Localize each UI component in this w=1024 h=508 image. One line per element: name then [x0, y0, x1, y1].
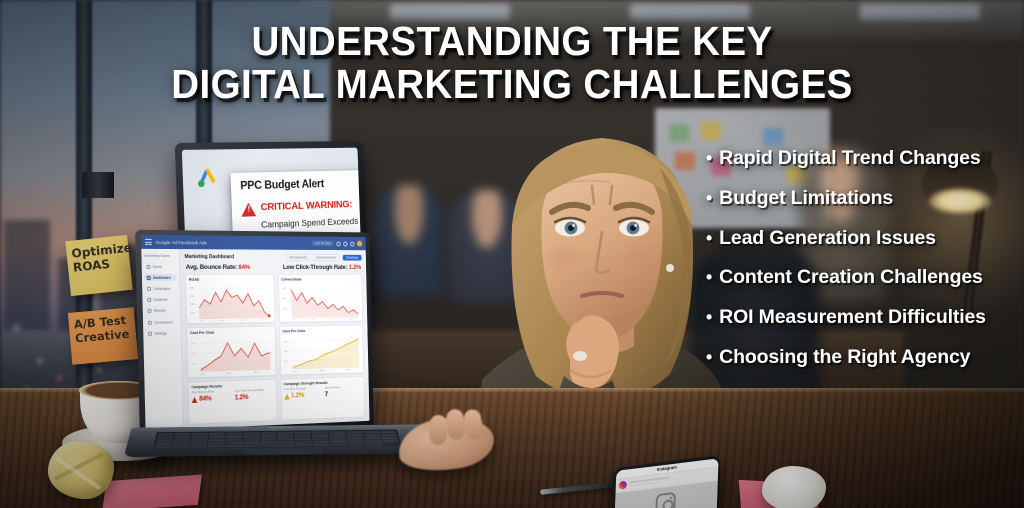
svg-text:Mar 5: Mar 5 — [345, 369, 350, 372]
headline-metrics: Avg. Bounce Rate: 84% Low Click-Through … — [185, 264, 362, 271]
sidebar-item-label: Settings — [154, 331, 166, 335]
svg-text:2500: 2500 — [283, 308, 287, 310]
chart-plot-area: 2.001.50 1.00 Jan 1Feb 5 Mar 19 — [190, 336, 272, 376]
ceiling-light — [630, 4, 750, 20]
result-value: 7 — [325, 391, 328, 398]
metric-bounce-rate: Avg. Bounce Rate: 84% — [186, 264, 250, 271]
kebab-menu-icon[interactable]: ⋮ — [356, 329, 359, 331]
result-value: 1.2% — [235, 394, 249, 401]
svg-text:Jan 1: Jan 1 — [291, 319, 295, 320]
svg-text:Mar 12: Mar 12 — [330, 318, 335, 321]
window-mullion — [76, 0, 92, 430]
sidebar-item-audience[interactable]: Audience — [145, 296, 177, 303]
kebab-menu-icon[interactable]: ⋮ — [355, 278, 358, 280]
result-value: 1.2% — [291, 392, 304, 399]
alert-severity-label: CRITICAL WARNING: — [260, 198, 352, 212]
chart-plot-area: 400%300% 200%100% Jan 1Feb 5 Mar 12Apr 2 — [189, 283, 271, 321]
bell-icon[interactable] — [350, 241, 354, 246]
svg-text:Feb 5: Feb 5 — [220, 320, 225, 321]
sticky-note-line-2: Creative — [75, 327, 132, 346]
list-item-label: Choosing the Right Agency — [719, 347, 970, 369]
result-label: Low Click-Through — [284, 387, 321, 392]
chart-card-row-bottom: Cost Per Click ⋮ — [186, 325, 364, 379]
phone-screen[interactable]: Instagram — [614, 458, 718, 508]
list-item: • ROI Measurement Difficulties — [706, 307, 1024, 329]
svg-text:Mar 12: Mar 12 — [241, 319, 246, 322]
svg-text:100%: 100% — [190, 312, 195, 314]
laptop-screen[interactable]: Google Ad Facebook Ads Last 30 days Mark… — [141, 235, 370, 431]
list-item: • Content Creation Challenges — [706, 267, 1024, 289]
svg-text:5000: 5000 — [282, 298, 286, 300]
pink-sticky-note — [102, 474, 202, 508]
sidebar-item-label: Audience — [154, 298, 168, 302]
chart-title: Cost Per Click — [282, 329, 305, 333]
laptop-model-label: MacBook Pro — [270, 426, 295, 428]
svg-text:300%: 300% — [190, 295, 195, 297]
svg-text:Apr 2: Apr 2 — [261, 318, 265, 321]
results-card-row: Campaign Results ⋮ Avg. Bounce Rate 84% — [187, 376, 365, 425]
segments-chip[interactable]: Set segments — [286, 254, 311, 261]
sidebar-item-label: Conversions — [154, 320, 173, 324]
poster-canvas: PPC Budget Alert CRITICAL WARNING: Campa… — [0, 0, 1024, 508]
chart-title: Conversions — [281, 277, 302, 281]
chart-card-conversions[interactable]: Conversions ⋮ — [277, 273, 363, 323]
gear-icon — [148, 331, 152, 335]
result-label: Low Click-Through Rate — [235, 388, 273, 393]
conversions-icon — [148, 320, 152, 324]
kebab-menu-icon[interactable]: ⋮ — [267, 278, 271, 280]
svg-text:Jan 1: Jan 1 — [293, 371, 298, 372]
sticky-note-ab-test-creative: A/B Test Creative — [68, 307, 138, 365]
bullet-icon: • — [706, 148, 712, 170]
chart-plot-area: 75005000 2500 Jan 1Feb 5 Mar 12Apr 2 — [281, 283, 359, 320]
metric-label: Avg. Bounce Rate: — [186, 264, 237, 271]
audience-icon — [147, 298, 151, 302]
post-meta-line — [629, 482, 655, 487]
chart-title: ROAS — [189, 277, 199, 281]
help-icon[interactable] — [343, 241, 347, 246]
result-cell-ctr: Low Click-Through Rate 1.2% — [235, 388, 274, 419]
chart-card-cost-per-click-red[interactable]: Cost Per Click ⋮ — [186, 326, 276, 378]
list-item-label: Budget Limitations — [719, 188, 893, 210]
laptop-lid: Google Ad Facebook Ads Last 30 days Mark… — [135, 230, 374, 440]
sidebar-item-home[interactable]: Home — [145, 263, 177, 270]
laptop-base: MacBook Pro — [124, 424, 441, 457]
campaign-results-card[interactable]: Campaign Results ⋮ Avg. Bounce Rate 84% — [187, 379, 277, 425]
sidebar-item-dashboard[interactable]: Dashboard — [145, 274, 177, 281]
result-cell-bounce-rate: Avg. Bounce Rate 84% — [191, 390, 231, 421]
chart-plot-area: 0.800.60 0.40 Jan 1Feb 5 Mar 5 — [282, 334, 360, 373]
warning-triangle-icon — [241, 202, 256, 216]
list-item-label: Content Creation Challenges — [719, 267, 983, 289]
list-item: • Lead Generation Issues — [706, 228, 1024, 250]
sidebar-item-label: Home — [153, 264, 162, 268]
roas-line-chart: 400%300% 200%100% Jan 1Feb 5 Mar 12Apr 2 — [189, 283, 271, 321]
bullet-icon: • — [706, 347, 712, 369]
metric-value: 1.2% — [349, 264, 361, 271]
city-building — [4, 220, 50, 330]
crumpled-white-paper — [762, 466, 826, 508]
conversions-line-chart: 75005000 2500 Jan 1Feb 5 Mar 12Apr 2 — [281, 283, 359, 320]
dashboard-icon — [147, 276, 151, 280]
date-range-chip[interactable]: Last 30 days — [312, 240, 334, 246]
svg-text:400%: 400% — [190, 287, 195, 289]
bullet-icon: • — [706, 188, 712, 210]
results-title: Campaign Results — [191, 384, 222, 389]
bullet-icon: • — [706, 307, 712, 329]
sidebar-title: Marketing Share — [144, 254, 176, 258]
page-title: Marketing Dashboard — [184, 254, 234, 260]
campaign-strength-results-card[interactable]: Campaign Strength Results ⋮ Low Click-Th… — [280, 376, 365, 421]
svg-text:Jan 1: Jan 1 — [200, 320, 204, 321]
dashboard-topbar: Google Ad Facebook Ads Last 30 days — [141, 235, 366, 250]
list-item: • Rapid Digital Trend Changes — [706, 148, 1024, 170]
download-button[interactable]: Download — [342, 255, 361, 261]
list-item: • Budget Limitations — [706, 188, 1024, 210]
wall-sticky-note — [763, 128, 783, 146]
svg-text:0.60: 0.60 — [284, 351, 288, 353]
sidebar-item-conversions[interactable]: Conversions — [146, 318, 178, 326]
story-avatar[interactable] — [618, 480, 626, 489]
home-icon — [146, 264, 150, 268]
svg-text:0.80: 0.80 — [283, 342, 287, 344]
benchmarks-chip[interactable]: Set benchmarks — [313, 254, 340, 261]
sidebar-item-label: Campaigns — [153, 287, 170, 291]
dashboard-sidebar: Marketing Share Home Dashboard Campaigns — [141, 249, 184, 431]
sticky-note-optimize-roas: Optimize ROAS — [65, 235, 132, 296]
svg-text:0.40: 0.40 — [284, 361, 288, 363]
challenges-list: • Rapid Digital Trend Changes • Budget L… — [706, 148, 1024, 387]
ceiling-light — [860, 4, 980, 20]
svg-text:1.00: 1.00 — [192, 363, 196, 365]
metric-label: Low Click-Through Rate: — [283, 264, 348, 271]
result-cell-alerts: Alerts Raised 7 — [325, 385, 362, 415]
svg-text:Feb 5: Feb 5 — [227, 373, 232, 375]
sidebar-item-label: Dashboard — [153, 276, 171, 280]
hamburger-menu-icon[interactable] — [145, 239, 152, 245]
laptop-keyboard[interactable] — [153, 430, 401, 450]
svg-text:Apr 2: Apr 2 — [349, 317, 353, 320]
monitor-stand — [82, 172, 114, 198]
sidebar-item-reports[interactable]: Reports — [146, 307, 178, 315]
sidebar-item-settings[interactable]: Settings — [146, 329, 178, 337]
cpc-red-area-chart: 2.001.50 1.00 Jan 1Feb 5 Mar 19 — [190, 336, 272, 376]
gear-icon[interactable] — [336, 241, 340, 246]
crumpled-yellow-paper — [48, 441, 114, 499]
bullet-icon: • — [706, 267, 712, 289]
alert-title: PPC Budget Alert — [240, 178, 361, 193]
sidebar-item-campaigns[interactable]: Campaigns — [145, 285, 177, 292]
svg-text:Feb 5: Feb 5 — [320, 371, 325, 373]
dashboard-main: Marketing Dashboard Set segments Set ben… — [180, 249, 370, 429]
chart-card-row-top: ROAS ⋮ — [185, 273, 363, 324]
result-value: 84% — [199, 396, 211, 403]
chart-title: Cost Per Click — [190, 331, 214, 335]
google-ads-logo-icon — [194, 163, 220, 189]
app-name-label: Instagram — [657, 464, 677, 472]
kebab-menu-icon[interactable]: ⋮ — [357, 381, 360, 383]
instagram-icon — [655, 492, 676, 508]
ceiling — [300, 0, 1024, 46]
list-item-label: Lead Generation Issues — [719, 228, 936, 250]
svg-text:2.00: 2.00 — [191, 344, 195, 346]
warning-triangle-icon — [192, 397, 198, 403]
list-item: • Choosing the Right Agency — [706, 347, 1024, 369]
warning-triangle-icon — [284, 393, 289, 399]
cpc-amber-area-chart: 0.800.60 0.40 Jan 1Feb 5 Mar 5 — [282, 334, 360, 373]
svg-text:Feb 5: Feb 5 — [311, 319, 315, 320]
kebab-menu-icon[interactable]: ⋮ — [269, 383, 273, 385]
dashboard-brand-label: Google Ad Facebook Ads — [156, 239, 207, 244]
kebab-menu-icon[interactable]: ⋮ — [268, 331, 272, 333]
svg-text:200%: 200% — [190, 304, 195, 306]
result-cell-low-ctr: Low Click-Through 1.2% — [284, 387, 322, 417]
list-item-label: ROI Measurement Difficulties — [719, 307, 986, 329]
bullet-icon: • — [706, 228, 712, 250]
laptop-trackpad[interactable] — [243, 448, 323, 454]
sidebar-item-label: Reports — [154, 309, 166, 313]
result-label: Avg. Bounce Rate — [191, 390, 230, 395]
laptop: Google Ad Facebook Ads Last 30 days Mark… — [140, 230, 410, 460]
svg-text:7500: 7500 — [282, 288, 286, 290]
svg-text:Jan 1: Jan 1 — [201, 374, 206, 375]
campaign-icon — [147, 287, 151, 291]
chart-card-cost-per-click-amber[interactable]: Cost Per Click ⋮ — [279, 325, 364, 376]
metric-click-through-rate: Low Click-Through Rate: 1.2% — [283, 264, 361, 271]
ceiling-light — [390, 4, 510, 20]
metric-value: 84% — [238, 264, 250, 271]
avatar[interactable] — [357, 241, 362, 247]
chart-card-roas[interactable]: ROAS ⋮ — [185, 273, 275, 324]
result-label: Alerts Raised — [325, 385, 362, 390]
svg-text:1.50: 1.50 — [191, 354, 195, 356]
svg-text:Mar 19: Mar 19 — [254, 371, 260, 374]
list-item-label: Rapid Digital Trend Changes — [719, 148, 980, 170]
reports-icon — [148, 309, 152, 313]
